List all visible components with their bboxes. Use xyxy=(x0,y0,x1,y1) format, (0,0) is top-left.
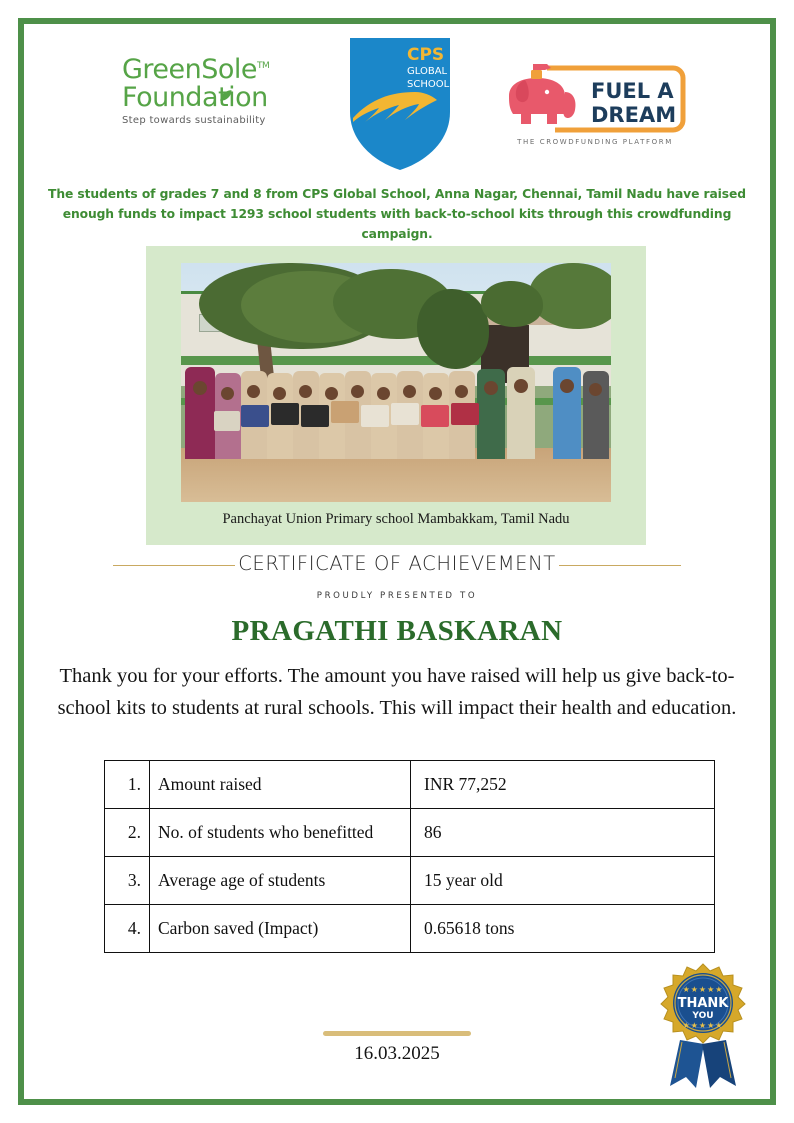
greensole-wordmark-line2: Foundation xyxy=(122,84,292,111)
campaign-headline: The students of grades 7 and 8 from CPS … xyxy=(32,184,762,244)
cps-logo-line2: GLOBAL xyxy=(407,66,448,77)
row-index: 1. xyxy=(105,761,150,809)
photo-caption: Panchayat Union Primary school Mambakkam… xyxy=(146,511,646,528)
row-index: 3. xyxy=(105,857,150,905)
certificate-title: CERTIFICATE OF ACHIEVEMENT xyxy=(97,552,697,575)
row-index: 4. xyxy=(105,905,150,953)
certificate-page: GreenSoleTM Foundation Step towards sust… xyxy=(0,0,794,1123)
seal-ribbon-right xyxy=(702,1040,736,1088)
date-rule xyxy=(323,1031,471,1036)
row-label: Carbon saved (Impact) xyxy=(150,905,411,953)
cps-logo-line1: CPS xyxy=(407,45,444,65)
row-value: 0.65618 tons xyxy=(411,905,715,953)
table-row: 1. Amount raised INR 77,252 xyxy=(105,761,715,809)
impact-table: 1. Amount raised INR 77,252 2. No. of st… xyxy=(104,760,715,953)
seal-ribbon-left xyxy=(670,1040,704,1088)
fuel-logo-line1: FUEL A xyxy=(591,79,674,103)
row-label: No. of students who benefitted xyxy=(150,809,411,857)
certificate-date: 16.03.2025 xyxy=(257,1043,537,1065)
trademark-symbol: TM xyxy=(257,61,269,71)
seal-stars-bottom: ★★★★★ xyxy=(683,1021,724,1030)
logo-row: GreenSoleTM Foundation Step towards sust… xyxy=(40,34,754,174)
fuel-logo-tagline: THE CROWDFUNDING PLATFORM xyxy=(516,138,673,146)
photo-crowd xyxy=(181,367,611,459)
row-label: Average age of students xyxy=(150,857,411,905)
recipient-name: PRAGATHI BASKARAN xyxy=(97,615,697,648)
certificate-title-row: CERTIFICATE OF ACHIEVEMENT xyxy=(97,552,697,578)
fuel-a-dream-logo: FUEL A DREAM THE CROWDFUNDING PLATFORM xyxy=(495,62,695,150)
row-value: INR 77,252 xyxy=(411,761,715,809)
seal-line1: THANK xyxy=(678,996,730,1011)
presented-to-label: PROUDLY PRESENTED TO xyxy=(97,591,697,601)
certificate-body-text: Thank you for your efforts. The amount y… xyxy=(36,660,758,724)
fuel-logo-line2: DREAM xyxy=(591,103,676,127)
table-row: 4. Carbon saved (Impact) 0.65618 tons xyxy=(105,905,715,953)
photo-panel: Panchayat Union Primary school Mambakkam… xyxy=(146,246,646,545)
row-index: 2. xyxy=(105,809,150,857)
greensole-foundation-logo: GreenSoleTM Foundation Step towards sust… xyxy=(122,56,292,126)
greensole-tagline: Step towards sustainability xyxy=(122,116,292,126)
row-value: 86 xyxy=(411,809,715,857)
cps-global-school-logo: CPS GLOBAL SCHOOL xyxy=(345,34,455,174)
row-label: Amount raised xyxy=(150,761,411,809)
thank-you-seal: ★★★★★ THANK YOU ★★★★★ xyxy=(648,962,758,1090)
greensole-wordmark-line1: GreenSoleTM xyxy=(122,56,269,83)
campaign-photo xyxy=(181,263,611,502)
seal-stars-top: ★★★★★ xyxy=(683,985,724,994)
cps-logo-line3: SCHOOL xyxy=(407,79,450,90)
row-value: 15 year old xyxy=(411,857,715,905)
leaf-icon xyxy=(218,88,233,103)
seal-line2: YOU xyxy=(691,1011,713,1021)
table-row: 2. No. of students who benefitted 86 xyxy=(105,809,715,857)
table-row: 3. Average age of students 15 year old xyxy=(105,857,715,905)
